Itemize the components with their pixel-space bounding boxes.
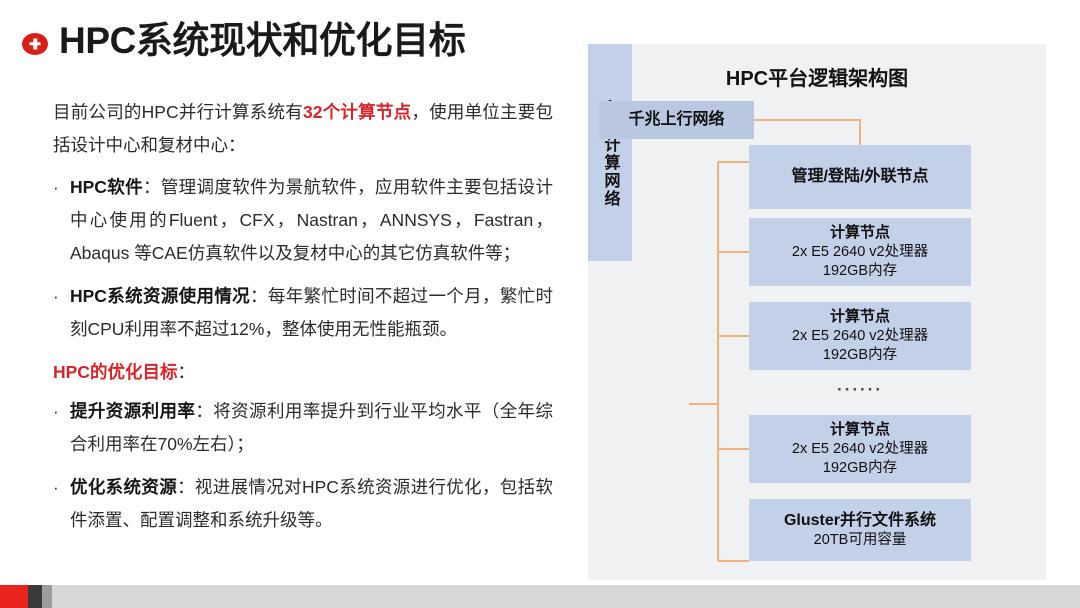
node-compute-3-memory: 192GB内存 bbox=[823, 459, 897, 478]
node-gluster-filesystem[interactable]: Gluster并行文件系统 20TB可用容量 bbox=[749, 499, 971, 561]
bullet-dot-icon: · bbox=[53, 280, 70, 346]
node-compute-1-memory: 192GB内存 bbox=[823, 262, 897, 281]
slide-left-column: HPC系统现状和优化目标 目前公司的HPC并行计算系统有32个计算节点，使用单位… bbox=[0, 0, 580, 580]
intro-pre: 目前公司的HPC并行计算系统有 bbox=[53, 102, 303, 122]
intro-highlight: 32个计算节点 bbox=[303, 102, 411, 122]
intro-paragraph: 目前公司的HPC并行计算系统有32个计算节点，使用单位主要包括设计中心和复材中心… bbox=[53, 96, 553, 162]
section-heading-text: HPC的优化目标 bbox=[53, 362, 177, 382]
goal-text: 提升资源利用率：将资源利用率提升到行业平均水平（全年综合利用率在70%左右）； bbox=[70, 395, 553, 461]
footer-segment-light bbox=[52, 585, 1080, 608]
goal-text: 优化系统资源：视进展情况对HPC系统资源进行优化，包括软件添置、配置调整和系统升… bbox=[70, 471, 553, 537]
section-heading: HPC的优化目标： bbox=[53, 356, 553, 389]
footer-segment-mid bbox=[42, 585, 52, 608]
node-gluster-capacity: 20TB可用容量 bbox=[814, 531, 907, 550]
bullet-dot-icon: · bbox=[53, 395, 70, 461]
bullet-colon: ： bbox=[250, 286, 268, 306]
goal-item: · 优化系统资源：视进展情况对HPC系统资源进行优化，包括软件添置、配置调整和系… bbox=[53, 471, 553, 537]
bullet-lead: HPC软件 bbox=[70, 177, 143, 197]
node-uplink-title: 千兆上行网络 bbox=[628, 110, 724, 130]
node-compute-3-title: 计算节点 bbox=[830, 420, 890, 440]
bullet-item: · HPC软件：管理调度软件为景航软件，应用软件主要包括设计中心使用的Fluen… bbox=[53, 171, 553, 270]
bullet-colon: ： bbox=[143, 177, 161, 197]
node-uplink-network[interactable]: 千兆上行网络 bbox=[599, 101, 754, 139]
node-compute-2-cpu: 2x E5 2640 v2处理器 bbox=[792, 327, 928, 346]
goal-item: · 提升资源利用率：将资源利用率提升到行业平均水平（全年综合利用率在70%左右）… bbox=[53, 395, 553, 461]
footer-segment-dark bbox=[28, 585, 42, 608]
architecture-diagram-panel: HPC平台逻辑架构图 千兆上行网络 管理/登陆/外联节点 计算节点 2x bbox=[588, 44, 1046, 580]
page-title: HPC系统现状和优化目标 bbox=[59, 22, 465, 59]
node-ellipsis: ······ bbox=[749, 380, 971, 400]
slide-body: 目前公司的HPC并行计算系统有32个计算节点，使用单位主要包括设计中心和复材中心… bbox=[53, 96, 553, 547]
goal-lead: 优化系统资源 bbox=[70, 477, 177, 497]
node-compute-3-cpu: 2x E5 2640 v2处理器 bbox=[792, 440, 928, 459]
bullet-dot-icon: · bbox=[53, 471, 70, 537]
bullet-item: · HPC系统资源使用情况：每年繁忙时间不超过一个月，繁忙时刻CPU利用率不超过… bbox=[53, 280, 553, 346]
bullet-text: HPC软件：管理调度软件为景航软件，应用软件主要包括设计中心使用的Fluent，… bbox=[70, 171, 553, 270]
node-mgmt-title: 管理/登陆/外联节点 bbox=[792, 167, 929, 187]
node-compute-1-title: 计算节点 bbox=[830, 223, 890, 243]
bullet-lead: HPC系统资源使用情况 bbox=[70, 286, 250, 306]
goal-lead: 提升资源利用率 bbox=[70, 401, 195, 421]
node-compute-2-title: 计算节点 bbox=[830, 307, 890, 327]
diagram-title: HPC平台逻辑架构图 bbox=[588, 62, 1046, 91]
node-compute-1-cpu: 2x E5 2640 v2处理器 bbox=[792, 243, 928, 262]
plus-circle-icon bbox=[22, 33, 48, 55]
bullet-text: HPC系统资源使用情况：每年繁忙时间不超过一个月，繁忙时刻CPU利用率不超过12… bbox=[70, 280, 553, 346]
footer-segment-red bbox=[0, 585, 28, 608]
node-compute-3[interactable]: 计算节点 2x E5 2640 v2处理器 192GB内存 bbox=[749, 415, 971, 483]
node-gluster-title: Gluster并行文件系统 bbox=[784, 511, 936, 531]
node-management-login-external[interactable]: 管理/登陆/外联节点 bbox=[749, 145, 971, 209]
footer-bar bbox=[0, 585, 1080, 608]
goal-colon: ： bbox=[177, 477, 195, 497]
node-compute-2-memory: 192GB内存 bbox=[823, 346, 897, 365]
section-heading-colon: ： bbox=[177, 362, 195, 382]
bullet-dot-icon: · bbox=[53, 171, 70, 270]
slide-title-row: HPC系统现状和优化目标 bbox=[22, 22, 465, 59]
goal-colon: ： bbox=[195, 401, 213, 421]
node-compute-2[interactable]: 计算节点 2x E5 2640 v2处理器 192GB内存 bbox=[749, 302, 971, 370]
node-compute-1[interactable]: 计算节点 2x E5 2640 v2处理器 192GB内存 bbox=[749, 218, 971, 286]
